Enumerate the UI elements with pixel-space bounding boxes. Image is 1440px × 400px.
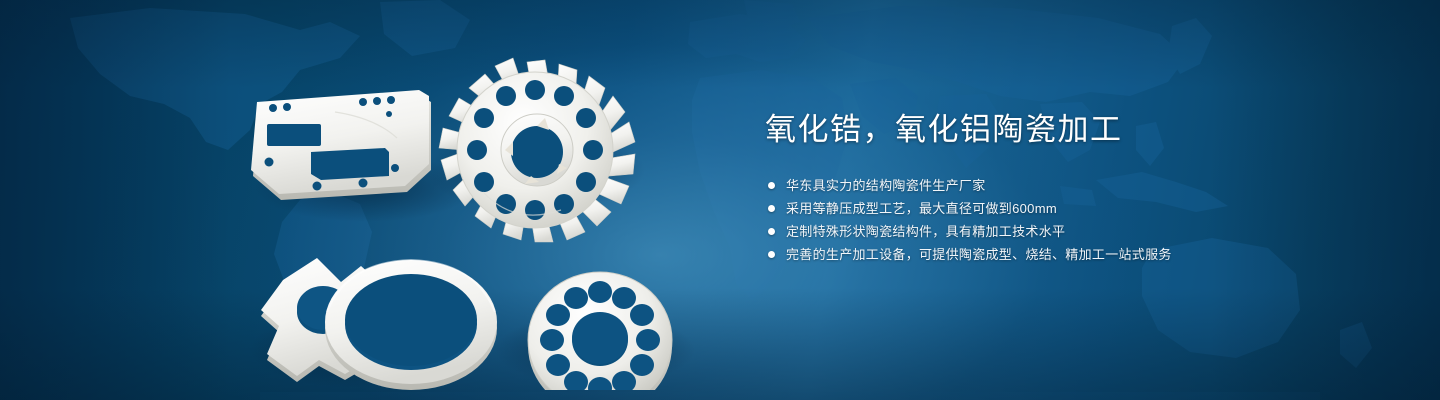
ceramic-products-photo	[235, 40, 715, 390]
banner-text-column: 氧化锆，氧化铝陶瓷加工 华东具实力的结构陶瓷件生产厂家 采用等静压成型工艺，最大…	[765, 110, 1385, 282]
bullet-dot-icon	[768, 205, 775, 212]
list-item: 采用等静压成型工艺，最大直径可做到600mm	[768, 197, 1385, 220]
list-item: 定制特殊形状陶瓷结构件，具有精加工技术水平	[768, 220, 1385, 243]
ceramic-ring-shape	[325, 260, 497, 390]
ceramic-perforated-disc-shape	[528, 272, 672, 390]
banner-feature-list: 华东具实力的结构陶瓷件生产厂家 采用等静压成型工艺，最大直径可做到600mm 定…	[768, 174, 1385, 266]
bullet-dot-icon	[768, 251, 775, 258]
ceramic-impeller-shape	[439, 58, 635, 242]
bullet-text: 采用等静压成型工艺，最大直径可做到600mm	[786, 201, 1057, 217]
bullet-text: 完善的生产加工设备，可提供陶瓷成型、烧结、精加工一站式服务	[786, 247, 1172, 263]
bullet-text: 定制特殊形状陶瓷结构件，具有精加工技术水平	[786, 224, 1065, 240]
banner-headline: 氧化锆，氧化铝陶瓷加工	[765, 110, 1385, 150]
ceramic-plate-shape	[251, 90, 431, 200]
list-item: 完善的生产加工设备，可提供陶瓷成型、烧结、精加工一站式服务	[768, 243, 1385, 266]
list-item: 华东具实力的结构陶瓷件生产厂家	[768, 174, 1385, 197]
promo-banner: 氧化锆，氧化铝陶瓷加工 华东具实力的结构陶瓷件生产厂家 采用等静压成型工艺，最大…	[0, 0, 1440, 400]
bullet-dot-icon	[768, 228, 775, 235]
bullet-text: 华东具实力的结构陶瓷件生产厂家	[786, 178, 986, 194]
bullet-dot-icon	[768, 182, 775, 189]
